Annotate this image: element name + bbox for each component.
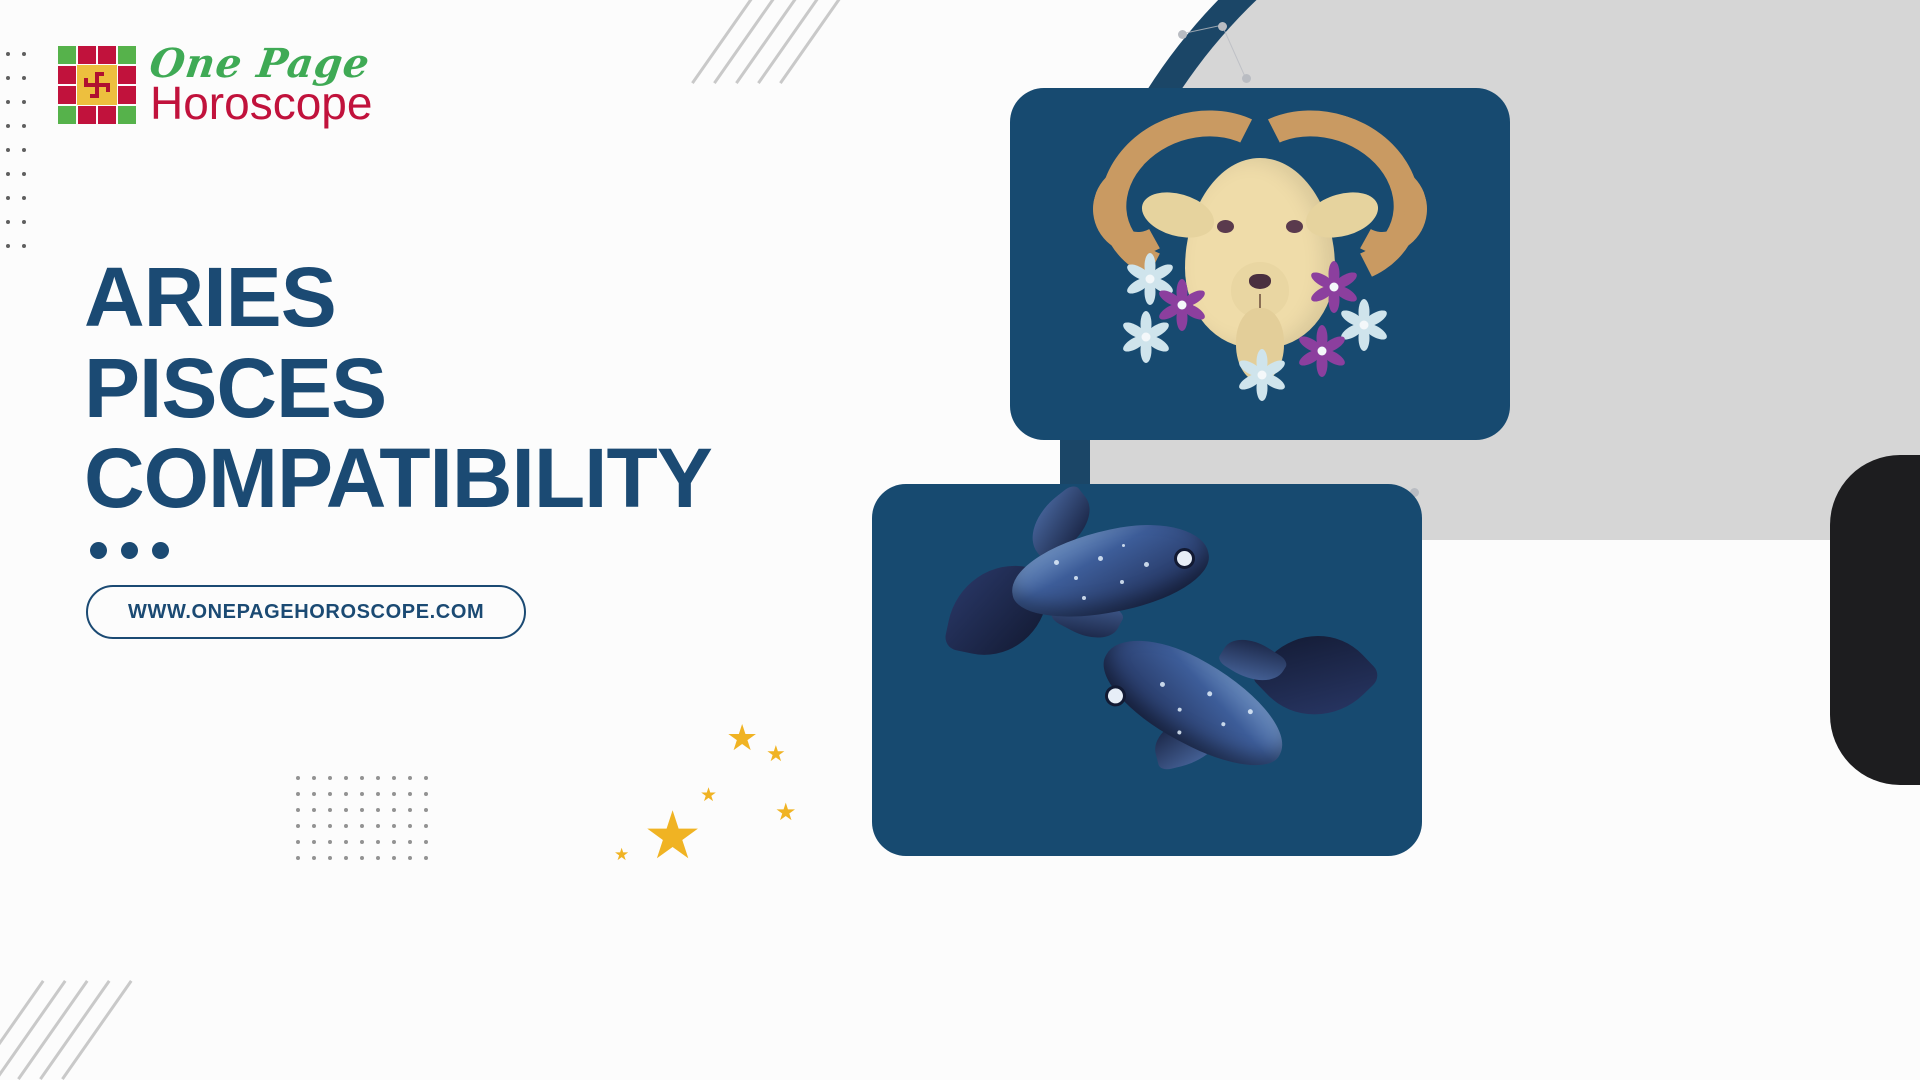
swastika-icon xyxy=(84,72,110,98)
swastika-grid-logo-icon xyxy=(58,46,136,124)
title-line-2: PISCES xyxy=(84,343,844,434)
page-title: ARIES PISCES COMPATIBILITY xyxy=(84,252,844,524)
star-icon: ★ xyxy=(775,800,797,824)
ram-eye-left xyxy=(1217,220,1234,233)
banner-canvas: One Page Horoscope ARIES PISCES COMPATIB… xyxy=(0,0,1920,1080)
title-line-1: ARIES xyxy=(84,252,844,343)
star-icon: ★ xyxy=(726,721,758,757)
three-dot-separator xyxy=(90,542,844,559)
flower-icon xyxy=(1295,324,1349,378)
title-line-3: COMPATIBILITY xyxy=(84,433,844,524)
dark-corner-accent xyxy=(1830,455,1920,785)
brand-logo[interactable]: One Page Horoscope xyxy=(58,44,372,126)
star-icon: ★ xyxy=(643,803,702,869)
pisces-card[interactable] xyxy=(872,484,1422,856)
separator-dot xyxy=(90,542,107,559)
aries-card[interactable] xyxy=(1010,88,1510,440)
brand-name-line1: One Page xyxy=(147,44,375,84)
star-icon: ★ xyxy=(614,847,629,864)
ram-eye-right xyxy=(1286,220,1303,233)
star-icon: ★ xyxy=(766,744,786,766)
flower-icon xyxy=(1235,348,1289,402)
headline-block: ARIES PISCES COMPATIBILITY WWW.ONEPAGEHO… xyxy=(84,252,844,639)
fish-eye xyxy=(1174,548,1195,569)
separator-dot xyxy=(121,542,138,559)
star-icon: ★ xyxy=(700,786,717,805)
flower-icon xyxy=(1119,310,1173,364)
fish-illustration-lower xyxy=(1045,592,1410,856)
separator-dot xyxy=(152,542,169,559)
logo-center-tile xyxy=(77,65,117,105)
ram-nose xyxy=(1249,274,1271,289)
website-url-button[interactable]: WWW.ONEPAGEHOROSCOPE.COM xyxy=(86,585,526,639)
brand-wordmark: One Page Horoscope xyxy=(150,44,372,126)
ram-illustration xyxy=(1095,102,1425,422)
